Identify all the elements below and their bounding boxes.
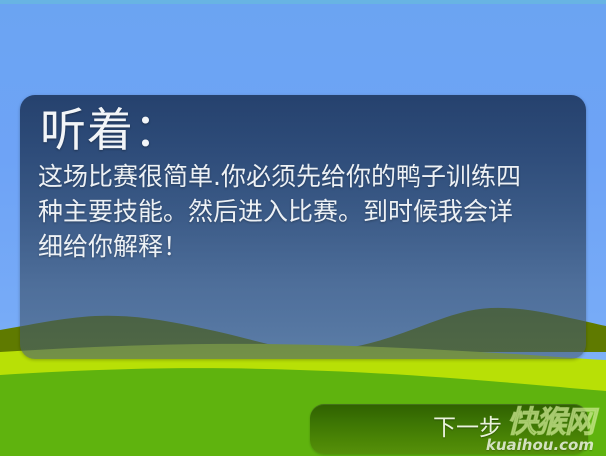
dialog-content: 听着： 这场比赛很简单.你必须先给你的鸭子训练四 种主要技能。然后进入比赛。到时… [20,95,586,359]
game-screen: 听着： 这场比赛很简单.你必须先给你的鸭子训练四 种主要技能。然后进入比赛。到时… [0,0,606,456]
next-step-button[interactable]: 下一步 [310,404,588,454]
dialog-body-line-1: 这场比赛很简单.你必须先给你的鸭子训练四 [38,159,572,194]
dialog-body-line-3: 细给你解释！ [38,229,572,264]
dialog-body: 这场比赛很简单.你必须先给你的鸭子训练四 种主要技能。然后进入比赛。到时候我会详… [38,159,572,264]
next-step-button-label: 下一步 [433,413,502,443]
dialog-body-line-2: 种主要技能。然后进入比赛。到时候我会详 [38,194,572,229]
instruction-dialog: 听着： 这场比赛很简单.你必须先给你的鸭子训练四 种主要技能。然后进入比赛。到时… [20,95,586,359]
dialog-title: 听着： [40,103,572,157]
